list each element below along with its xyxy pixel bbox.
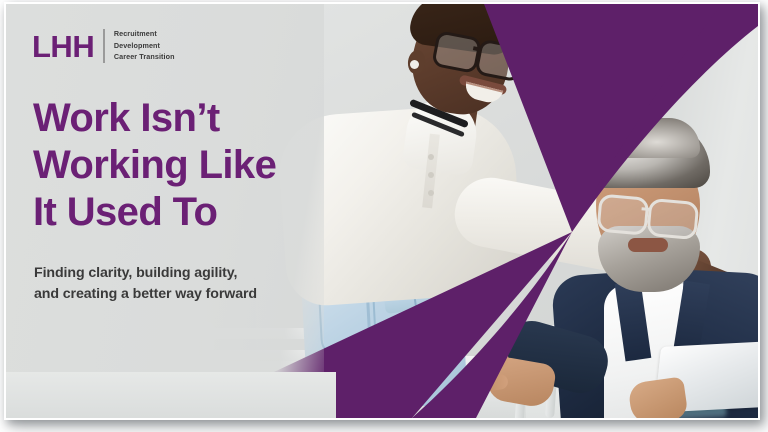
eyeglass-lens <box>646 198 699 240</box>
woman-jacket-button <box>428 190 434 196</box>
headline-line-1: Work Isn’t <box>33 95 333 142</box>
headline-line-2: Working Like <box>33 142 333 189</box>
man-mouth <box>628 238 668 252</box>
woman-jacket-button <box>428 172 434 178</box>
slide-canvas: LHH Recruitment Development Career Trans… <box>6 4 758 418</box>
woman-earring <box>410 60 419 69</box>
woman-jacket-button <box>428 154 434 160</box>
logo-wordmark: LHH <box>32 31 94 62</box>
panel-floor <box>6 372 336 418</box>
logo-tagline: Recruitment Development Career Transitio… <box>114 29 175 63</box>
slide-frame: LHH Recruitment Development Career Trans… <box>4 2 760 420</box>
logo-divider <box>103 29 105 63</box>
subheadline-line-2: and creating a better way forward <box>34 284 324 305</box>
headline-line-3: It Used To <box>33 189 333 236</box>
logo-tagline-line: Development <box>114 41 175 52</box>
logo-tagline-line: Career Transition <box>114 52 175 63</box>
logo-tagline-line: Recruitment <box>114 29 175 40</box>
lhh-logo[interactable]: LHH Recruitment Development Career Trans… <box>32 29 175 63</box>
slide-subheadline: Finding clarity, building agility, and c… <box>34 263 324 305</box>
slide-headline: Work Isn’t Working Like It Used To <box>33 95 333 236</box>
laptop <box>646 344 758 418</box>
subheadline-line-1: Finding clarity, building agility, <box>34 263 324 284</box>
man-eyeglasses <box>597 194 704 239</box>
man-hair-highlight <box>592 118 700 158</box>
eyeglass-lens <box>596 194 649 236</box>
